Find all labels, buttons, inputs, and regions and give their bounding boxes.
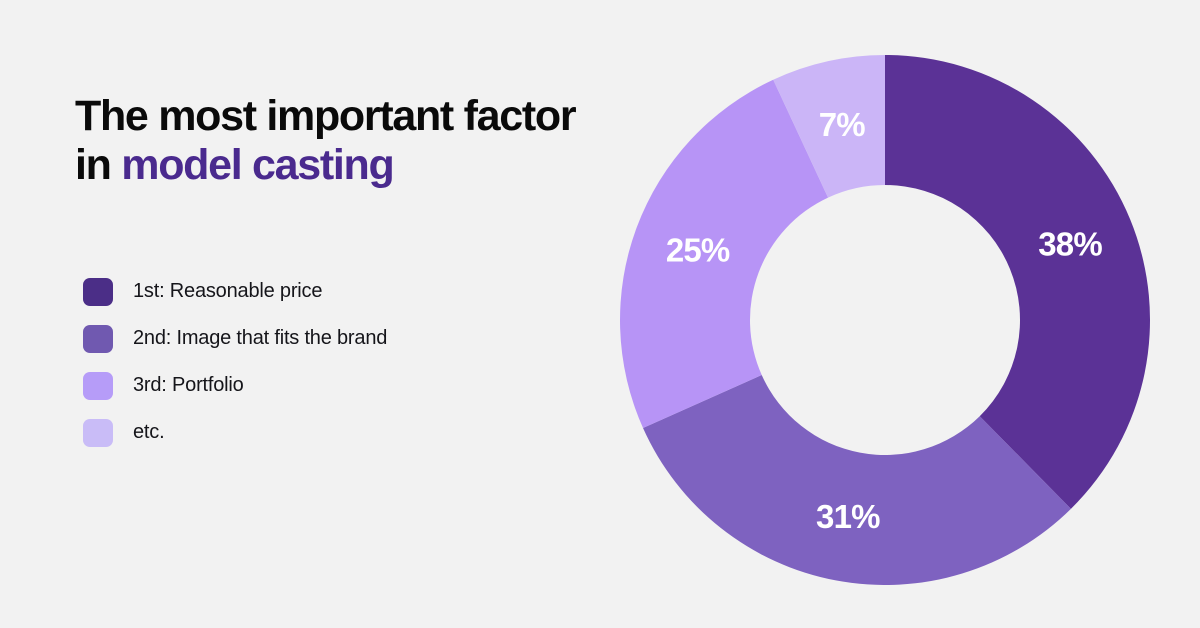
donut-slice-label: 25% (666, 231, 730, 268)
donut-chart: 38%31%25%7% (620, 55, 1150, 585)
infographic-canvas: The most important factor in model casti… (0, 0, 1200, 628)
legend-item-label: 2nd: Image that fits the brand (133, 327, 387, 350)
donut-slice-label: 31% (816, 498, 880, 535)
legend-item-etc[interactable]: etc. (83, 409, 553, 456)
legend-item-2nd[interactable]: 2nd: Image that fits the brand (83, 315, 553, 362)
legend-swatch-icon (83, 419, 113, 447)
legend-swatch-icon (83, 325, 113, 353)
chart-legend: 1st: Reasonable price 2nd: Image that fi… (83, 268, 553, 456)
legend-swatch-icon (83, 278, 113, 306)
legend-item-label: 1st: Reasonable price (133, 280, 322, 303)
legend-item-3rd[interactable]: 3rd: Portfolio (83, 362, 553, 409)
page-title: The most important factor in model casti… (75, 92, 675, 190)
title-line-2-accent: model casting (121, 141, 393, 189)
legend-item-label: 3rd: Portfolio (133, 374, 244, 397)
donut-chart-svg: 38%31%25%7% (620, 55, 1150, 585)
donut-slice-label: 38% (1038, 226, 1102, 263)
title-line-1: The most important factor (75, 92, 675, 141)
legend-item-label: etc. (133, 421, 164, 444)
donut-slice[interactable] (885, 55, 1150, 509)
donut-slice-label: 7% (819, 106, 866, 143)
title-line-2-prefix: in (75, 141, 121, 189)
legend-item-1st[interactable]: 1st: Reasonable price (83, 268, 553, 315)
title-line-2: in model casting (75, 141, 675, 190)
legend-swatch-icon (83, 372, 113, 400)
donut-slice-group (620, 55, 1150, 585)
